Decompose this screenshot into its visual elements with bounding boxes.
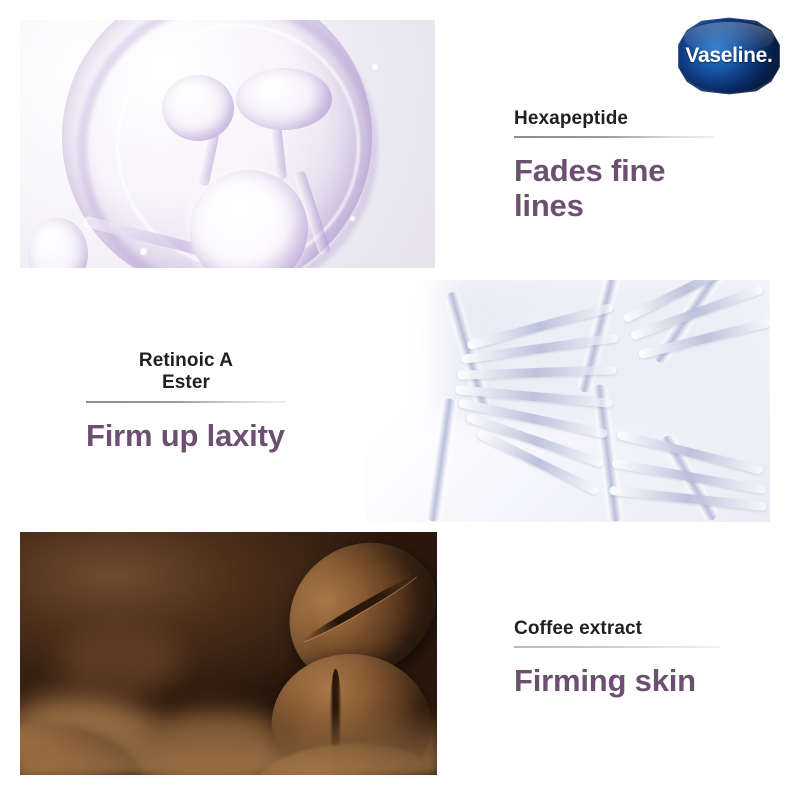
dna-helix-image: [365, 280, 770, 522]
benefit-headline-coffee-extract: Firming skin: [514, 664, 720, 698]
sparkle-dot: [350, 216, 355, 221]
molecule-sphere: [28, 218, 88, 268]
sparkle-dot: [372, 64, 378, 70]
divider-line: [514, 136, 714, 138]
coffee-beans-image: [20, 532, 437, 775]
benefit-headline-hexapeptide: Fades fine lines: [514, 154, 714, 222]
molecule-sphere: [236, 68, 332, 130]
benefit-headline-retinoic-a-ester: Firm up laxity: [86, 419, 286, 453]
text-block-coffee-extract: Coffee extract Firming skin: [514, 618, 720, 699]
vaseline-logo: Vaseline.: [676, 16, 782, 96]
divider-line: [514, 646, 720, 648]
bean-crease: [302, 572, 419, 644]
foreground-blur: [20, 709, 437, 775]
sparkle-dot: [140, 248, 147, 255]
bokeh-blob: [60, 624, 180, 694]
text-block-retinoic-a-ester: Retinoic A Ester Firm up laxity: [86, 350, 286, 453]
ingredient-name-retinoic-a-ester: Retinoic A Ester: [86, 350, 286, 395]
molecule-sphere: [162, 75, 234, 141]
divider-line: [86, 401, 286, 403]
text-block-hexapeptide: Hexapeptide Fades fine lines: [514, 108, 714, 223]
ingredient-name-hexapeptide: Hexapeptide: [514, 108, 714, 130]
ingredient-name-coffee-extract: Coffee extract: [514, 618, 720, 640]
bubble-molecule-image: [20, 20, 435, 268]
dna-rail: [426, 398, 456, 522]
product-ingredient-infographic: Vaseline.: [0, 0, 800, 800]
vaseline-logo-text: Vaseline.: [676, 16, 782, 96]
